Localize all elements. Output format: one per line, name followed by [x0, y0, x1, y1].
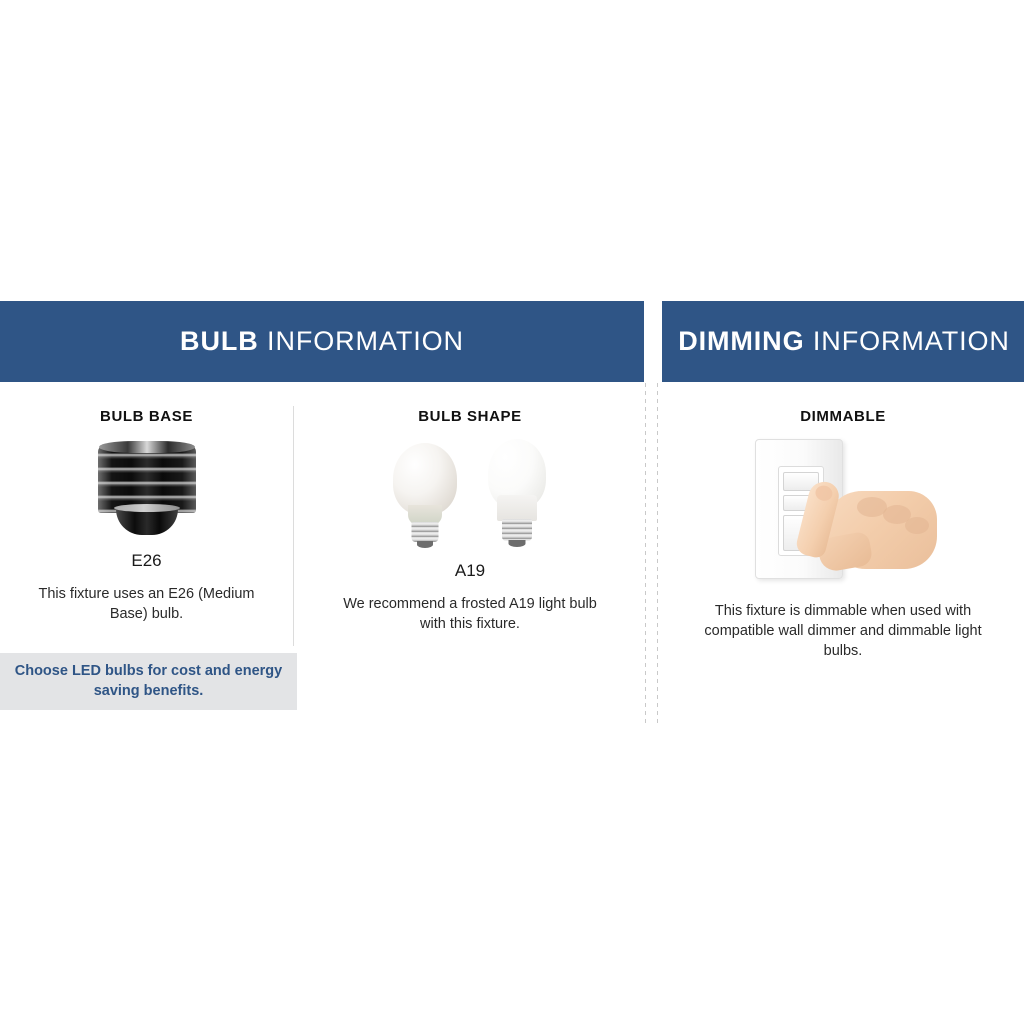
- dimming-information-header-title: DIMMING INFORMATION: [678, 326, 1010, 357]
- bulb-information-header: BULB INFORMATION: [0, 301, 644, 382]
- bulb-information-header-title: BULB INFORMATION: [180, 326, 464, 357]
- bulb-shape-description: We recommend a frosted A19 light bulb wi…: [294, 594, 646, 634]
- dimming-information-header-rest: INFORMATION: [805, 326, 1010, 356]
- e26-screw-base-icon: [87, 441, 207, 537]
- wall-dimmer-switch-icon: [743, 435, 943, 585]
- dimming-information-header-strong: DIMMING: [678, 326, 804, 356]
- dimmable-description: This fixture is dimmable when used with …: [662, 601, 1024, 661]
- bulb-shape-heading: BULB SHAPE: [294, 408, 646, 425]
- dotted-divider-right: [657, 383, 658, 723]
- frosted-incandescent-bulb-icon: [386, 443, 464, 547]
- hand-icon: [795, 481, 945, 581]
- led-callout-text: Choose LED bulbs for cost and energy sav…: [0, 662, 297, 701]
- bulb-base-description: This fixture uses an E26 (Medium Base) b…: [0, 584, 293, 624]
- bulb-base-value: E26: [0, 551, 293, 571]
- led-bulb-icon: [478, 439, 556, 547]
- bulb-shape-value: A19: [294, 561, 646, 581]
- led-callout-box: Choose LED bulbs for cost and energy sav…: [0, 653, 297, 710]
- bulb-and-dimming-info-graphic: BULB INFORMATION DIMMING INFORMATION BUL…: [0, 0, 1024, 1024]
- dimmable-heading: DIMMABLE: [662, 408, 1024, 425]
- a19-bulbs-icon: [380, 437, 560, 547]
- bulb-base-heading: BULB BASE: [0, 408, 293, 425]
- bulb-information-header-rest: INFORMATION: [259, 326, 464, 356]
- dimmable-column: DIMMABLE This fixture is dimmable when u…: [662, 408, 1024, 661]
- dimming-information-header: DIMMING INFORMATION: [662, 301, 1024, 382]
- bulb-shape-column: BULB SHAPE A19 We recommend a frosted A1…: [294, 408, 646, 634]
- bulb-information-header-strong: BULB: [180, 326, 259, 356]
- bulb-base-column: BULB BASE E26 This fixture uses an E26 (…: [0, 408, 293, 624]
